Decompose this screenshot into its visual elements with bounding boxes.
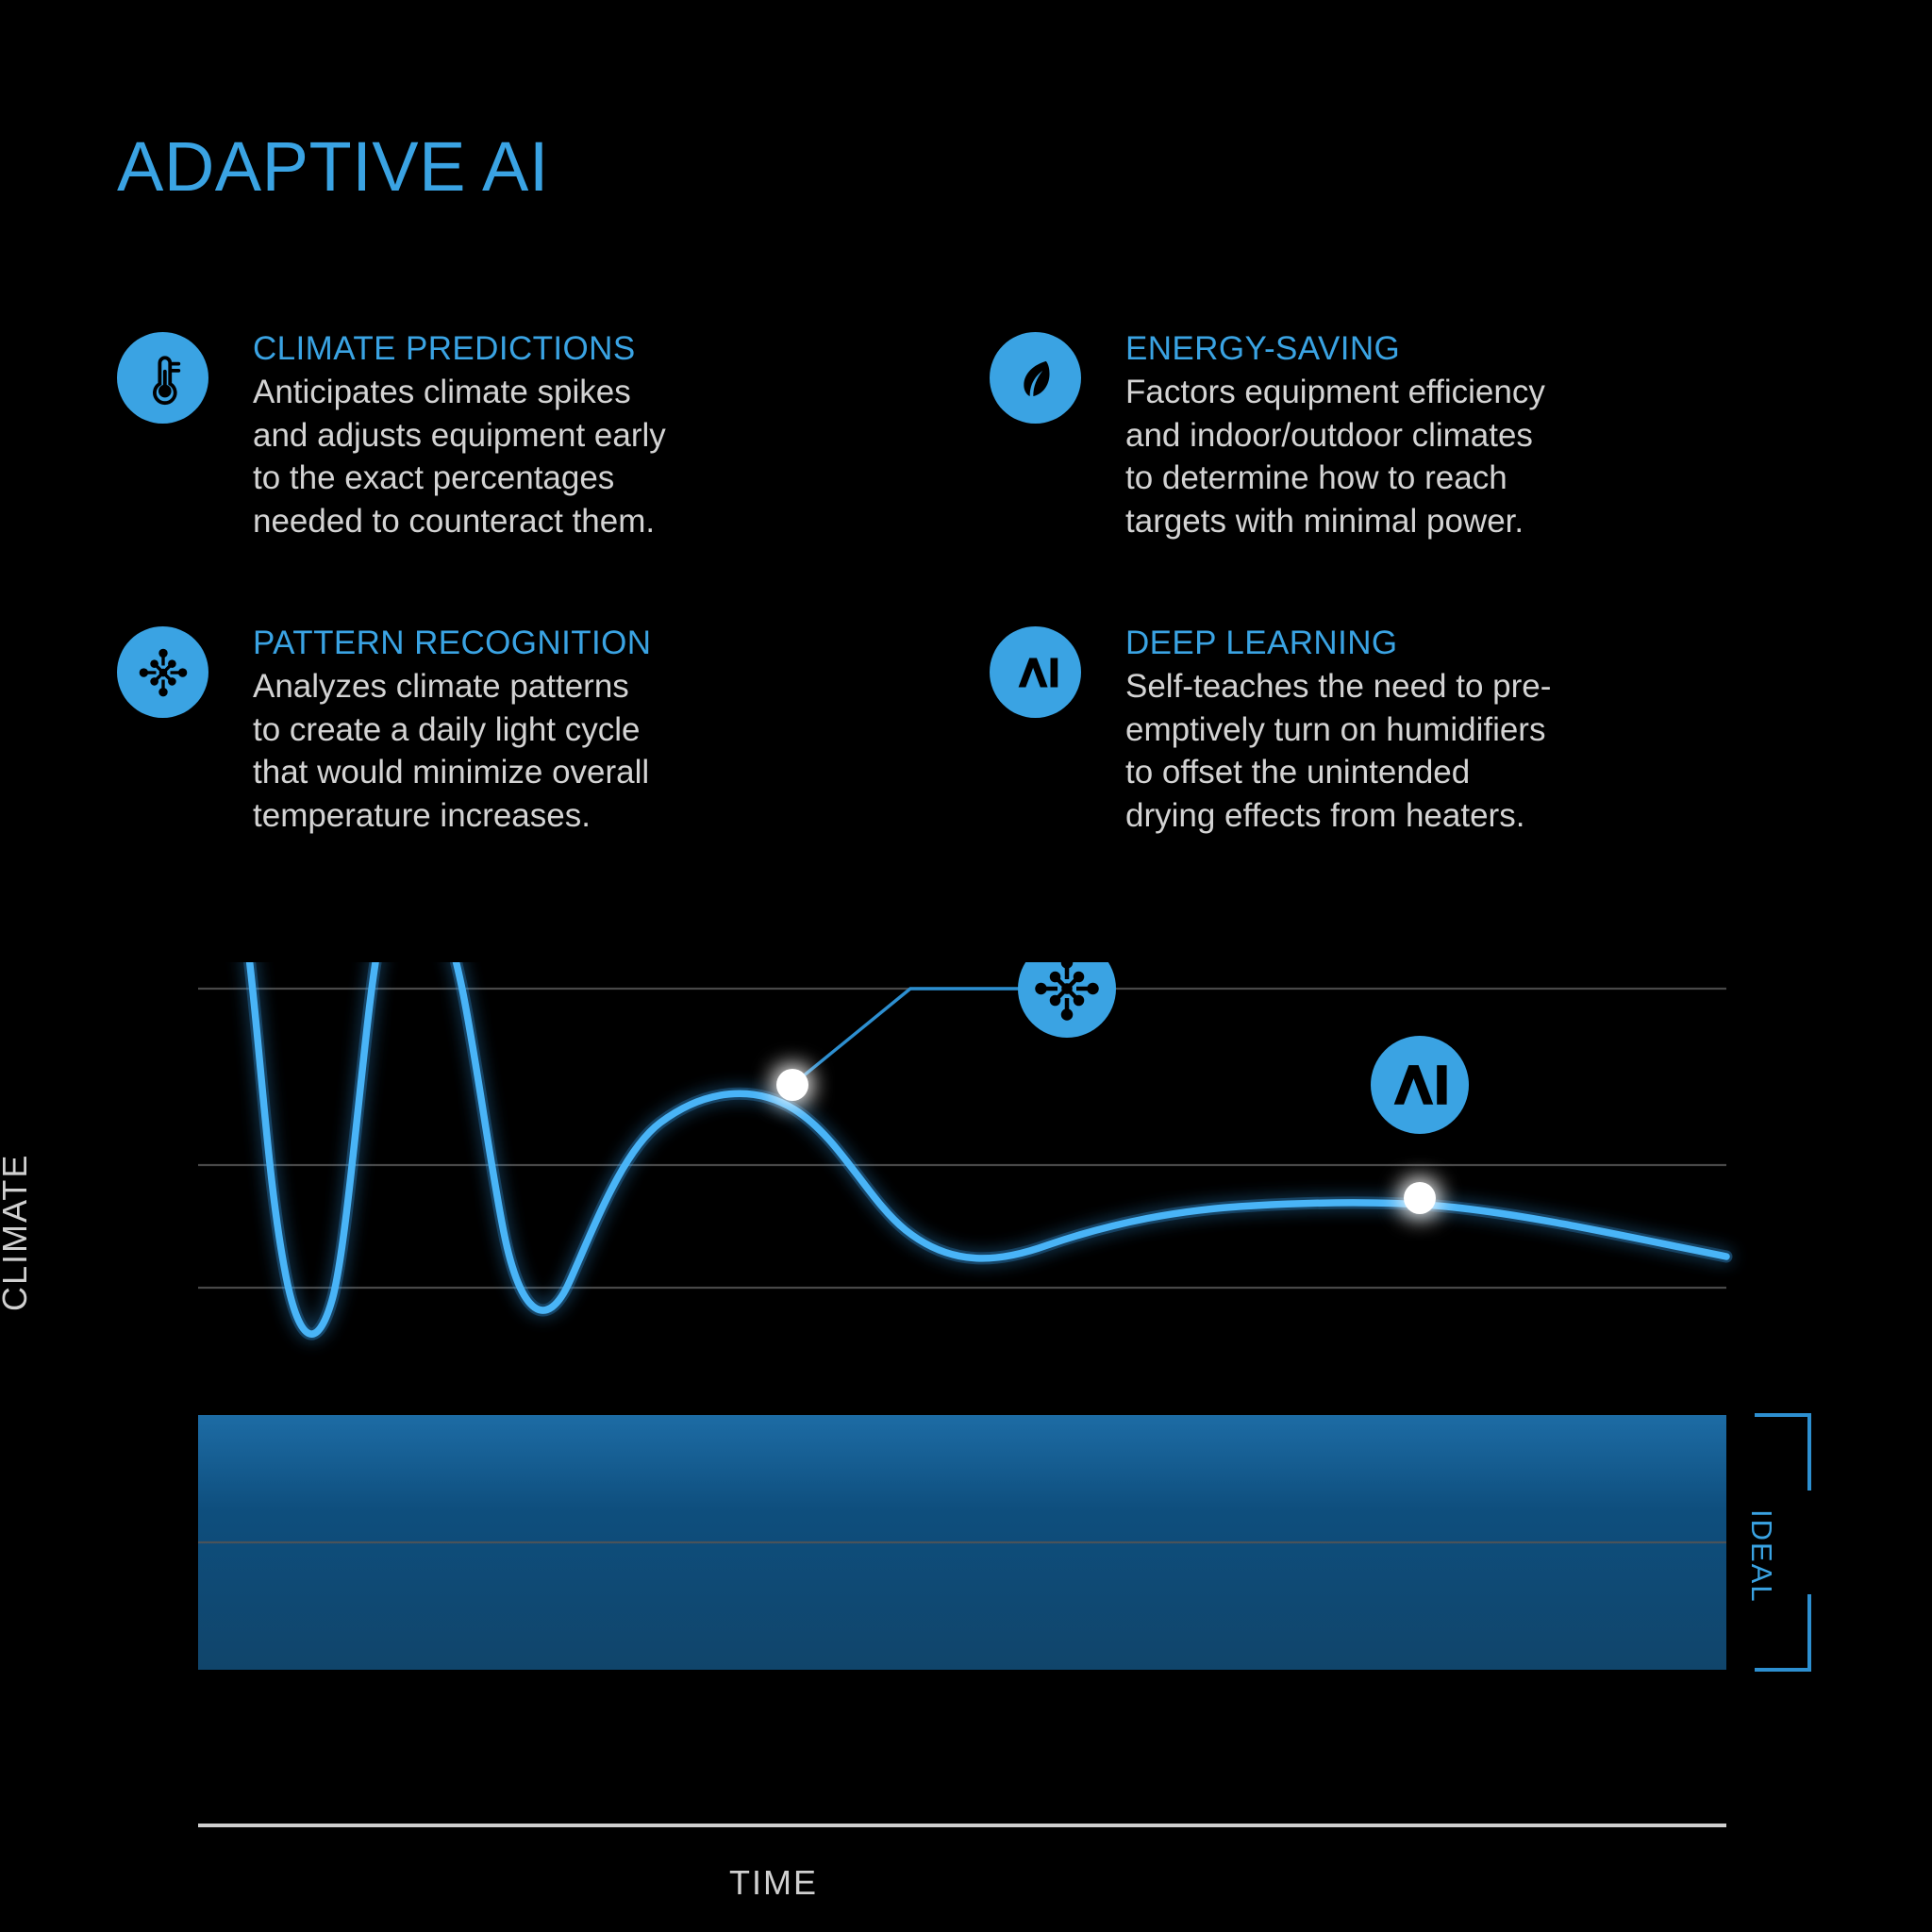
feature-body: ENERGY-SAVING Factors equipment efficien… [1125, 328, 1545, 542]
network-nodes-icon [117, 626, 208, 718]
feature-grid: CLIMATE PREDICTIONS Anticipates climate … [117, 328, 1702, 837]
feature-pattern-recognition: PATTERN RECOGNITION Analyzes climate pat… [117, 623, 758, 837]
feature-description: Analyzes climate patterns to create a da… [253, 665, 651, 837]
feature-climate-predictions: CLIMATE PREDICTIONS Anticipates climate … [117, 328, 758, 542]
chart-marker-ai[interactable] [1371, 1036, 1469, 1134]
feature-title: PATTERN RECOGNITION [253, 625, 651, 661]
feature-title: CLIMATE PREDICTIONS [253, 330, 666, 367]
feature-description: Anticipates climate spikes and adjusts e… [253, 371, 666, 542]
marker-leader-lines [200, 962, 1420, 1198]
climate-chart: CLIMATE TIME IDEAL [0, 962, 1932, 1932]
feature-body: CLIMATE PREDICTIONS Anticipates climate … [253, 328, 666, 542]
feature-energy-saving: ENERGY-SAVING Factors equipment efficien… [990, 328, 1631, 542]
climate-curve [200, 962, 1726, 1334]
data-point-deep-learning[interactable] [1404, 1182, 1436, 1214]
feature-title: DEEP LEARNING [1125, 625, 1551, 661]
thermometer-icon [117, 332, 208, 424]
feature-body: DEEP LEARNING Self-teaches the need to p… [1125, 623, 1551, 837]
chart-canvas [0, 962, 1932, 1932]
leaf-icon [990, 332, 1081, 424]
x-axis-label: TIME [0, 1863, 1547, 1903]
ai-logo-icon [990, 626, 1081, 718]
page-title: ADAPTIVE AI [117, 132, 549, 202]
feature-body: PATTERN RECOGNITION Analyzes climate pat… [253, 623, 651, 837]
feature-description: Self-teaches the need to pre- emptively … [1125, 665, 1551, 837]
chart-marker-network[interactable] [1018, 962, 1116, 1038]
feature-deep-learning: DEEP LEARNING Self-teaches the need to p… [990, 623, 1631, 837]
climate-curve-glow [200, 962, 1726, 1334]
feature-description: Factors equipment efficiency and indoor/… [1125, 371, 1545, 542]
ideal-band-label: IDEAL [1744, 1509, 1778, 1604]
data-point-pattern-recognition[interactable] [776, 1069, 808, 1101]
feature-title: ENERGY-SAVING [1125, 330, 1545, 367]
y-axis-label: CLIMATE [0, 1154, 35, 1311]
